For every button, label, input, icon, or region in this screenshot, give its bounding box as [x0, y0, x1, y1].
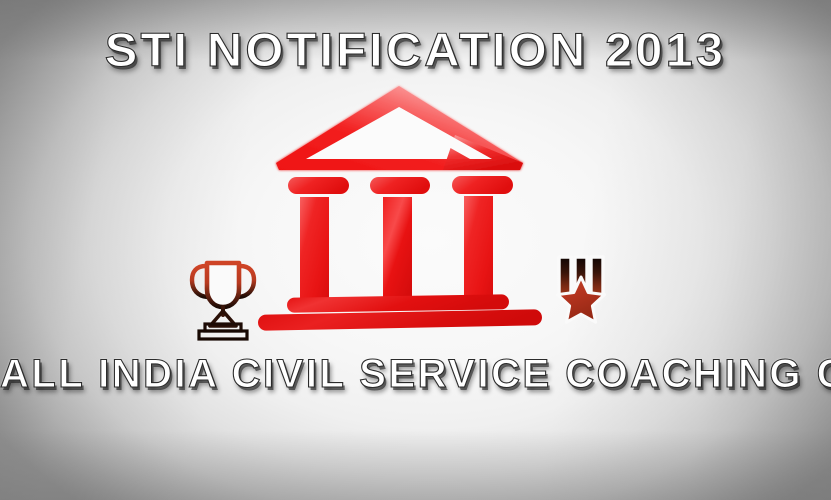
page-title: STI NOTIFICATION 2013: [0, 22, 831, 77]
poster-canvas: STI NOTIFICATION 2013 ALL INDIA CIVIL SE…: [0, 0, 831, 500]
tagline: ALL INDIA CIVIL SERVICE COACHING CENTRE: [0, 352, 831, 397]
